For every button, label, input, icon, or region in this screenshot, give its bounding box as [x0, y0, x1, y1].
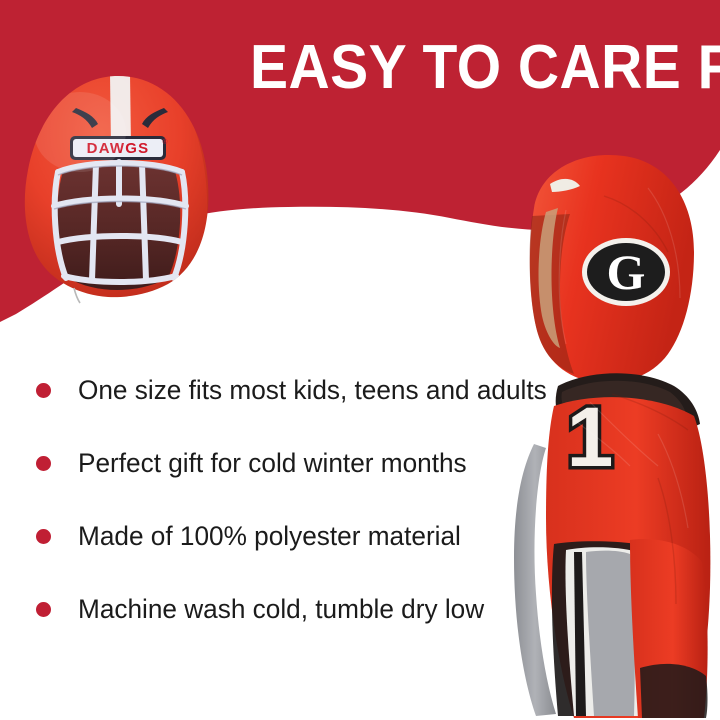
helmet-hat-illustration: DAWGS ®: [18, 72, 218, 304]
feature-text: One size fits most kids, teens and adult…: [78, 370, 547, 410]
feature-text: Made of 100% polyester material: [78, 516, 461, 556]
list-item: Made of 100% polyester material: [36, 518, 536, 591]
feature-list: One size fits most kids, teens and adult…: [36, 372, 536, 664]
svg-text:1: 1: [567, 390, 614, 484]
list-item: Perfect gift for cold winter months: [36, 445, 536, 518]
feature-text: Machine wash cold, tumble dry low: [78, 589, 484, 629]
jersey-number: 1: [567, 390, 614, 484]
bullet-dot-icon: [36, 383, 51, 398]
feature-text: Perfect gift for cold winter months: [78, 443, 467, 483]
blanket-hem-shadow: [640, 664, 708, 718]
page-title: EASY TO CARE FOR: [250, 36, 655, 100]
bullet-dot-icon: [36, 602, 51, 617]
bullet-dot-icon: [36, 529, 51, 544]
helmet-trademark: ®: [162, 138, 168, 146]
list-item: Machine wash cold, tumble dry low: [36, 591, 536, 664]
product-feature-card: EASY TO CARE FOR: [0, 0, 720, 720]
product-image-helmet-hat: DAWGS ®: [18, 72, 218, 304]
georgia-g-logo: G: [582, 238, 670, 306]
georgia-g-letter: G: [607, 244, 646, 300]
list-item: One size fits most kids, teens and adult…: [36, 372, 536, 445]
bullet-dot-icon: [36, 456, 51, 471]
